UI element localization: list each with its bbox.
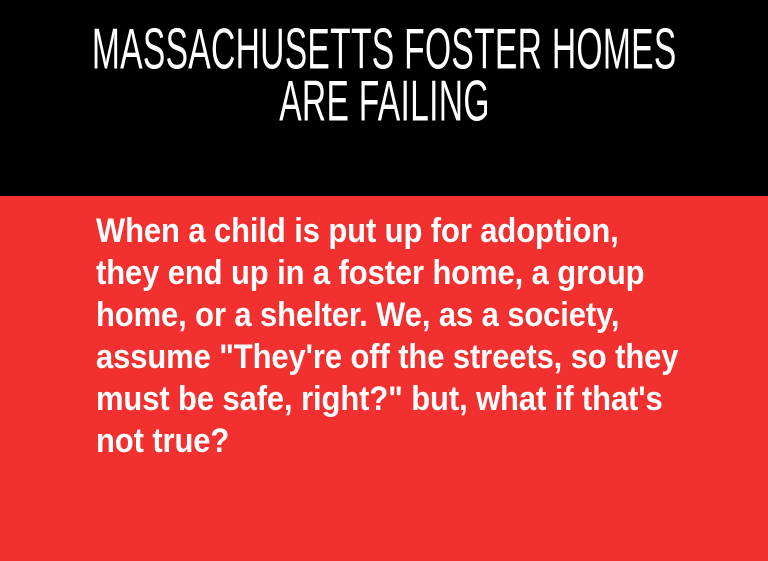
slide-canvas: MASSACHUSETTS FOSTER HOMES ARE FAILING W…	[0, 0, 768, 561]
body-paragraph-line-1: When a child is put up for adoption,	[96, 210, 678, 252]
body-paragraph: When a child is put up for adoption, the…	[96, 210, 736, 462]
body-paragraph-line-2: they end up in a foster home, a group	[96, 252, 678, 294]
body-paragraph-line-3: home, or a shelter. We, as a society,	[96, 294, 678, 336]
body-paragraph-line-6: not true?	[96, 420, 678, 462]
title-band: MASSACHUSETTS FOSTER HOMES ARE FAILING	[0, 0, 768, 196]
page-title-line-2: ARE FAILING	[279, 74, 490, 127]
body-paragraph-line-5: must be safe, right?" but, what if that'…	[96, 378, 678, 420]
body-panel: When a child is put up for adoption, the…	[0, 196, 768, 561]
body-paragraph-line-4: assume "They're off the streets, so they	[96, 336, 678, 378]
